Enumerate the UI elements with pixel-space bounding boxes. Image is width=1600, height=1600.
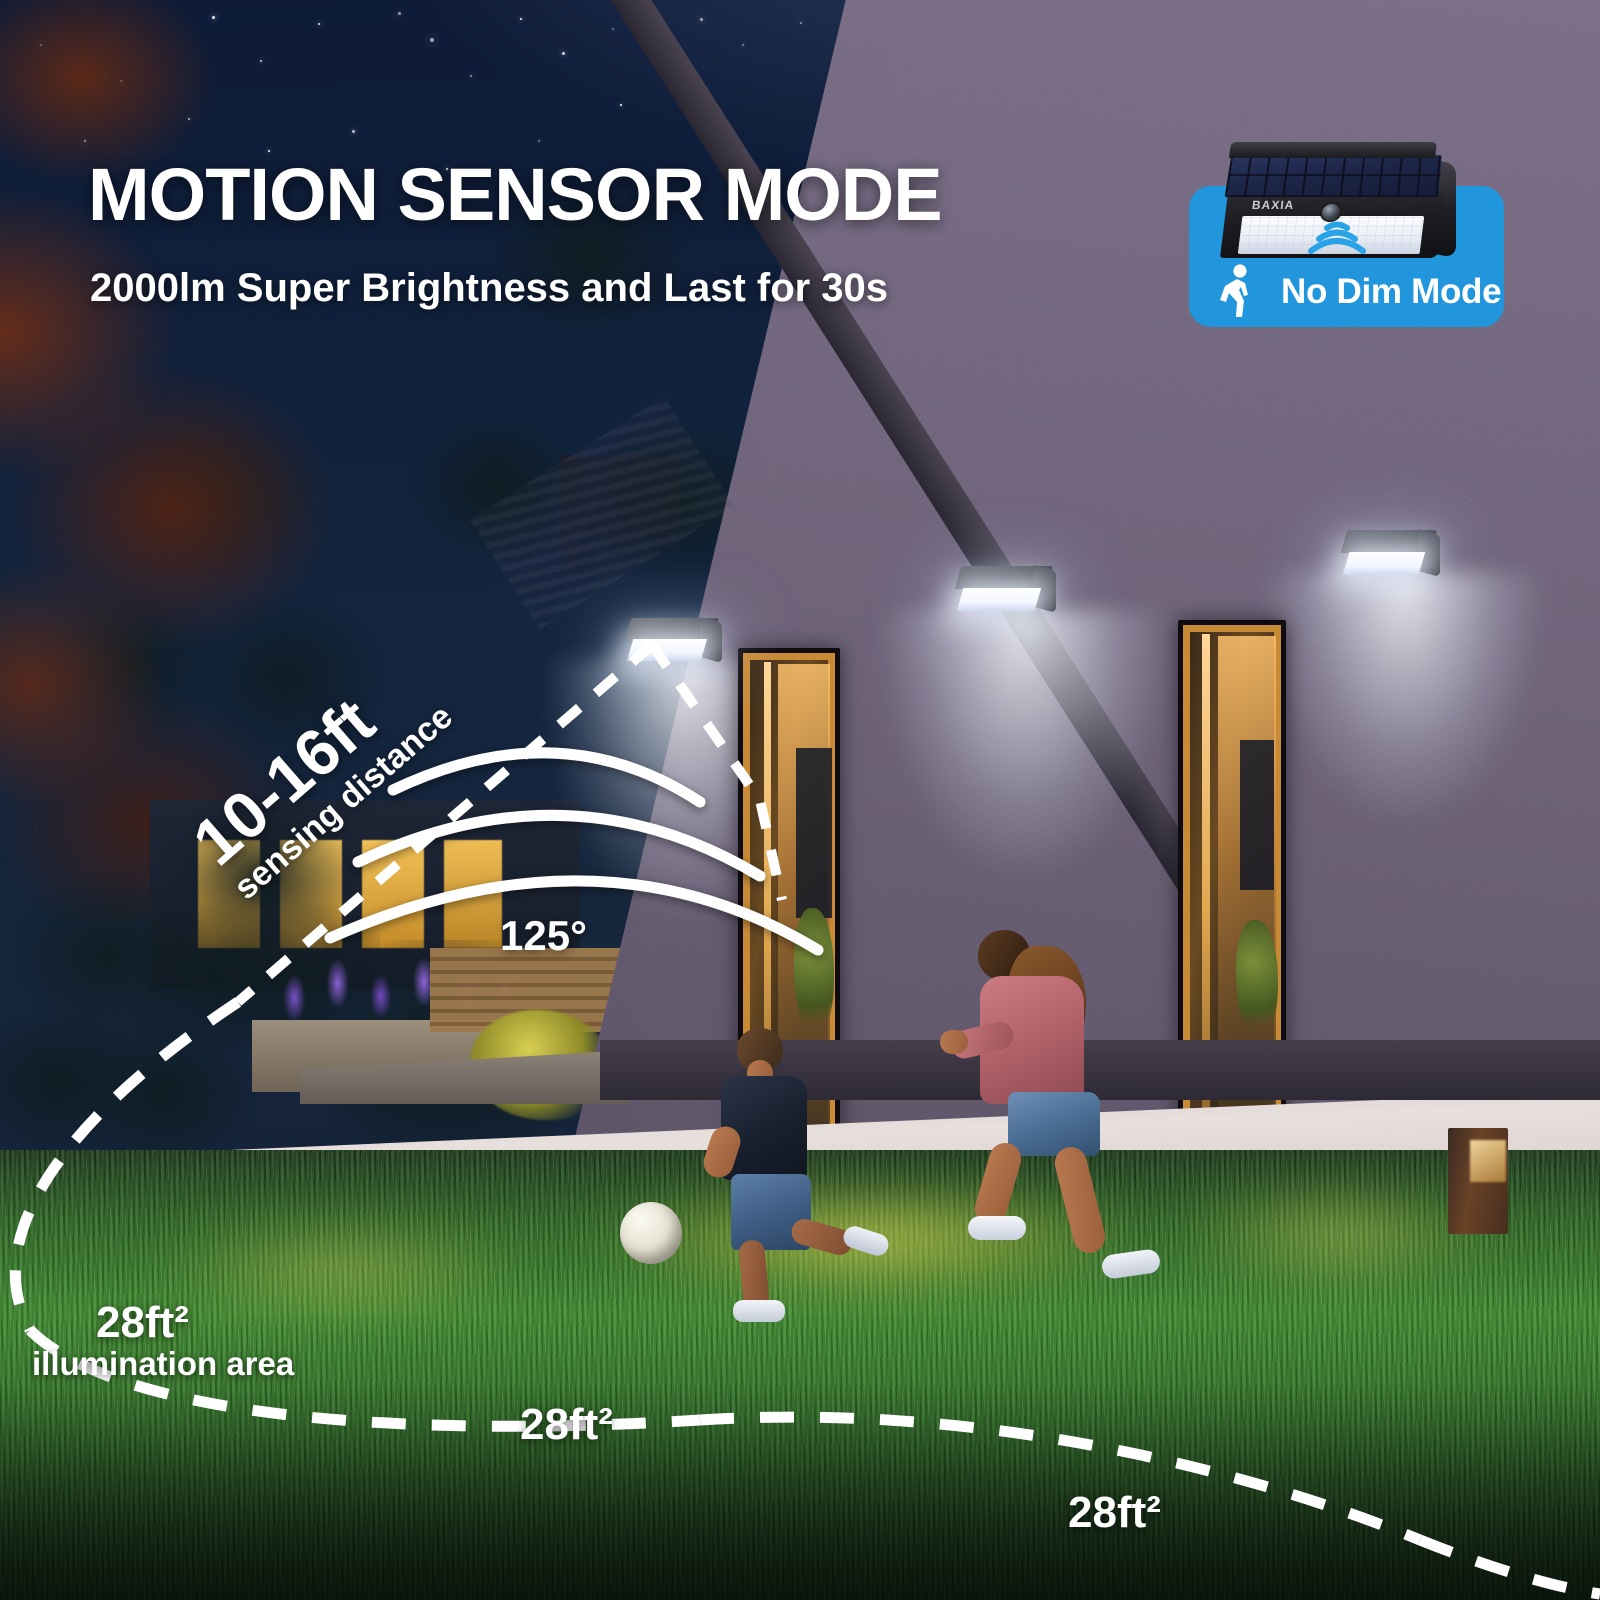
badge-label: No Dim Mode <box>1281 272 1501 312</box>
woman-shoe <box>968 1216 1026 1240</box>
illumination-area-value: 28ft² <box>96 1300 294 1346</box>
product-feature-image: MOTION SENSOR MODE 2000lm Super Brightne… <box>0 0 1600 1600</box>
motion-wave-icon <box>1294 218 1380 256</box>
boy-shoe <box>733 1300 785 1322</box>
woman-shorts <box>1008 1092 1100 1156</box>
angle-label: 125° <box>500 912 587 960</box>
area-label-3-value: 28ft² <box>1068 1490 1161 1536</box>
wall-lamp-center <box>952 566 1062 622</box>
soccer-ball <box>620 1202 682 1264</box>
illumination-area-caption: illumination area <box>32 1346 294 1382</box>
woman-shoe <box>1101 1248 1162 1280</box>
area-label-3: 28ft² <box>1068 1490 1161 1536</box>
wall-lamp-left <box>622 618 726 672</box>
product-solar-panel <box>1225 155 1442 197</box>
product-top-edge <box>1229 142 1437 158</box>
star <box>700 18 703 21</box>
wall-lamp-right <box>1338 530 1446 586</box>
page-subtitle: 2000lm Super Brightness and Last for 30s <box>90 266 888 311</box>
area-label-2-value: 28ft² <box>520 1402 613 1448</box>
star <box>800 22 802 24</box>
product-brand-label: BAXIA <box>1251 198 1295 212</box>
area-label-2: 28ft² <box>520 1402 613 1448</box>
boy-playing-soccer <box>705 1028 895 1318</box>
boy-shirt <box>721 1076 807 1180</box>
woman-leg <box>1051 1144 1108 1257</box>
page-title: MOTION SENSOR MODE <box>88 152 942 237</box>
woman-hand <box>940 1030 968 1054</box>
illumination-area-label: 28ft² illumination area <box>96 1300 294 1382</box>
woman-running <box>960 930 1190 1320</box>
bollard-glow <box>1470 1140 1506 1182</box>
lawn-foreground-shade <box>0 1380 1600 1600</box>
product-image: BAXIA <box>1216 142 1456 274</box>
boy-shoe <box>841 1223 892 1258</box>
